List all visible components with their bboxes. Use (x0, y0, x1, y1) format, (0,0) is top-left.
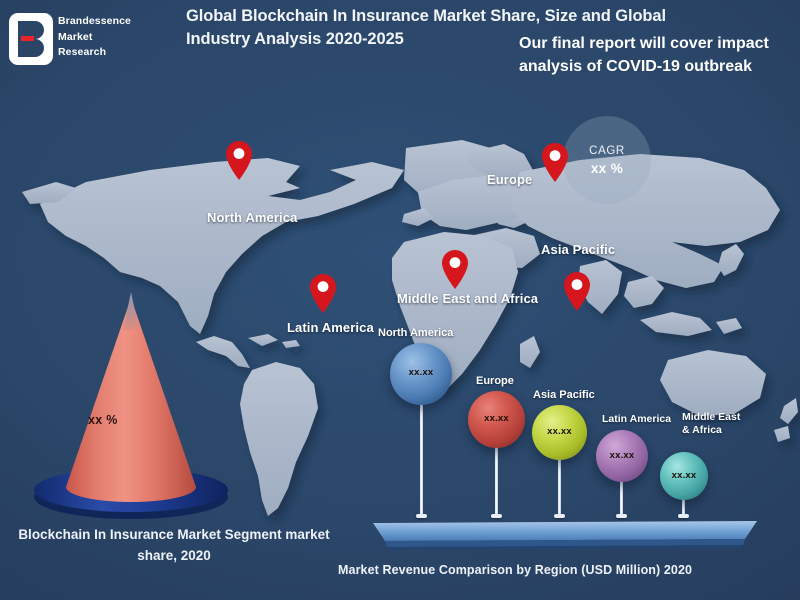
cagr-bubble: CAGR xx % (563, 116, 651, 204)
map-label-europe: Europe (487, 172, 532, 187)
map-pin-europe[interactable] (540, 142, 570, 183)
bubble-label-middle-east-africa-line1: Middle East (682, 411, 740, 424)
map-pin-north-america[interactable] (224, 140, 254, 181)
bubble-chart-caption: Market Revenue Comparison by Region (USD… (338, 563, 692, 577)
bubble-value-middle-east-africa: xx.xx (660, 470, 708, 481)
cagr-label: CAGR (589, 145, 625, 157)
bubble-label-latin-america: Latin America (602, 413, 671, 426)
bubble-stem-foot-middle-east-africa (678, 514, 689, 518)
map-label-north-america: North America (207, 210, 297, 225)
location-pin-icon (440, 249, 470, 290)
brand-name-line-2: Market (58, 30, 150, 46)
bubble-north-america[interactable]: xx.xx (390, 343, 452, 405)
bubble-stem-foot-latin-america (616, 514, 627, 518)
bubble-label-middle-east-africa: Middle East & Africa (682, 411, 740, 437)
bubble-middle-east-africa[interactable]: xx.xx (660, 452, 708, 500)
bubble-stem-foot-north-america (416, 514, 427, 518)
cone-chart (24, 282, 239, 532)
bubble-stem-asia-pacific (558, 455, 561, 517)
cone-value-label: xx % (88, 413, 118, 427)
bubble-label-middle-east-africa-line2: & Africa (682, 424, 740, 437)
cone-tip (123, 292, 139, 330)
cagr-value: xx % (591, 161, 623, 176)
map-pin-latin-america[interactable] (308, 273, 338, 314)
bubble-label-north-america: North America (378, 327, 453, 340)
bubble-stem-foot-asia-pacific (554, 514, 565, 518)
bubble-value-europe: xx.xx (468, 413, 525, 424)
brand-logo: Brandessence Market Research (8, 10, 148, 72)
location-pin-icon (224, 140, 254, 181)
brandessence-b-logo-icon (8, 12, 54, 66)
bubble-stem-latin-america (620, 477, 623, 517)
map-label-asia-pacific: Asia Pacific (541, 242, 615, 257)
location-pin-icon (562, 271, 592, 312)
brand-name-line-3: Research (58, 45, 150, 61)
brand-name-line-1: Brandessence (58, 14, 150, 30)
bubble-asia-pacific[interactable]: xx.xx (532, 405, 587, 460)
location-pin-icon (308, 273, 338, 314)
region-bubble-chart: North America xx.xx Europe xx.xx Asia Pa… (330, 325, 800, 565)
map-pin-asia-pacific[interactable] (562, 271, 592, 312)
bubble-value-north-america: xx.xx (390, 367, 452, 378)
bubble-stem-foot-europe (491, 514, 502, 518)
infographic-canvas: Brandessence Market Research Global Bloc… (0, 0, 800, 600)
bubble-stem-europe (495, 443, 498, 517)
map-pin-middle-east-africa[interactable] (440, 249, 470, 290)
bubble-value-asia-pacific: xx.xx (532, 426, 587, 437)
bubble-value-latin-america: xx.xx (596, 450, 648, 461)
bubble-europe[interactable]: xx.xx (468, 391, 525, 448)
covid-note: Our final report will cover impact analy… (519, 33, 795, 78)
cone-chart-caption: Blockchain In Insurance Market Segment m… (14, 524, 334, 566)
bubble-label-asia-pacific: Asia Pacific (533, 389, 595, 402)
bubble-label-europe: Europe (476, 375, 514, 388)
location-pin-icon (540, 142, 570, 183)
bubble-latin-america[interactable]: xx.xx (596, 430, 648, 482)
bubble-stem-north-america (420, 397, 423, 517)
map-label-middle-east-africa: Middle East and Africa (397, 291, 538, 306)
brand-name: Brandessence Market Research (58, 14, 150, 61)
